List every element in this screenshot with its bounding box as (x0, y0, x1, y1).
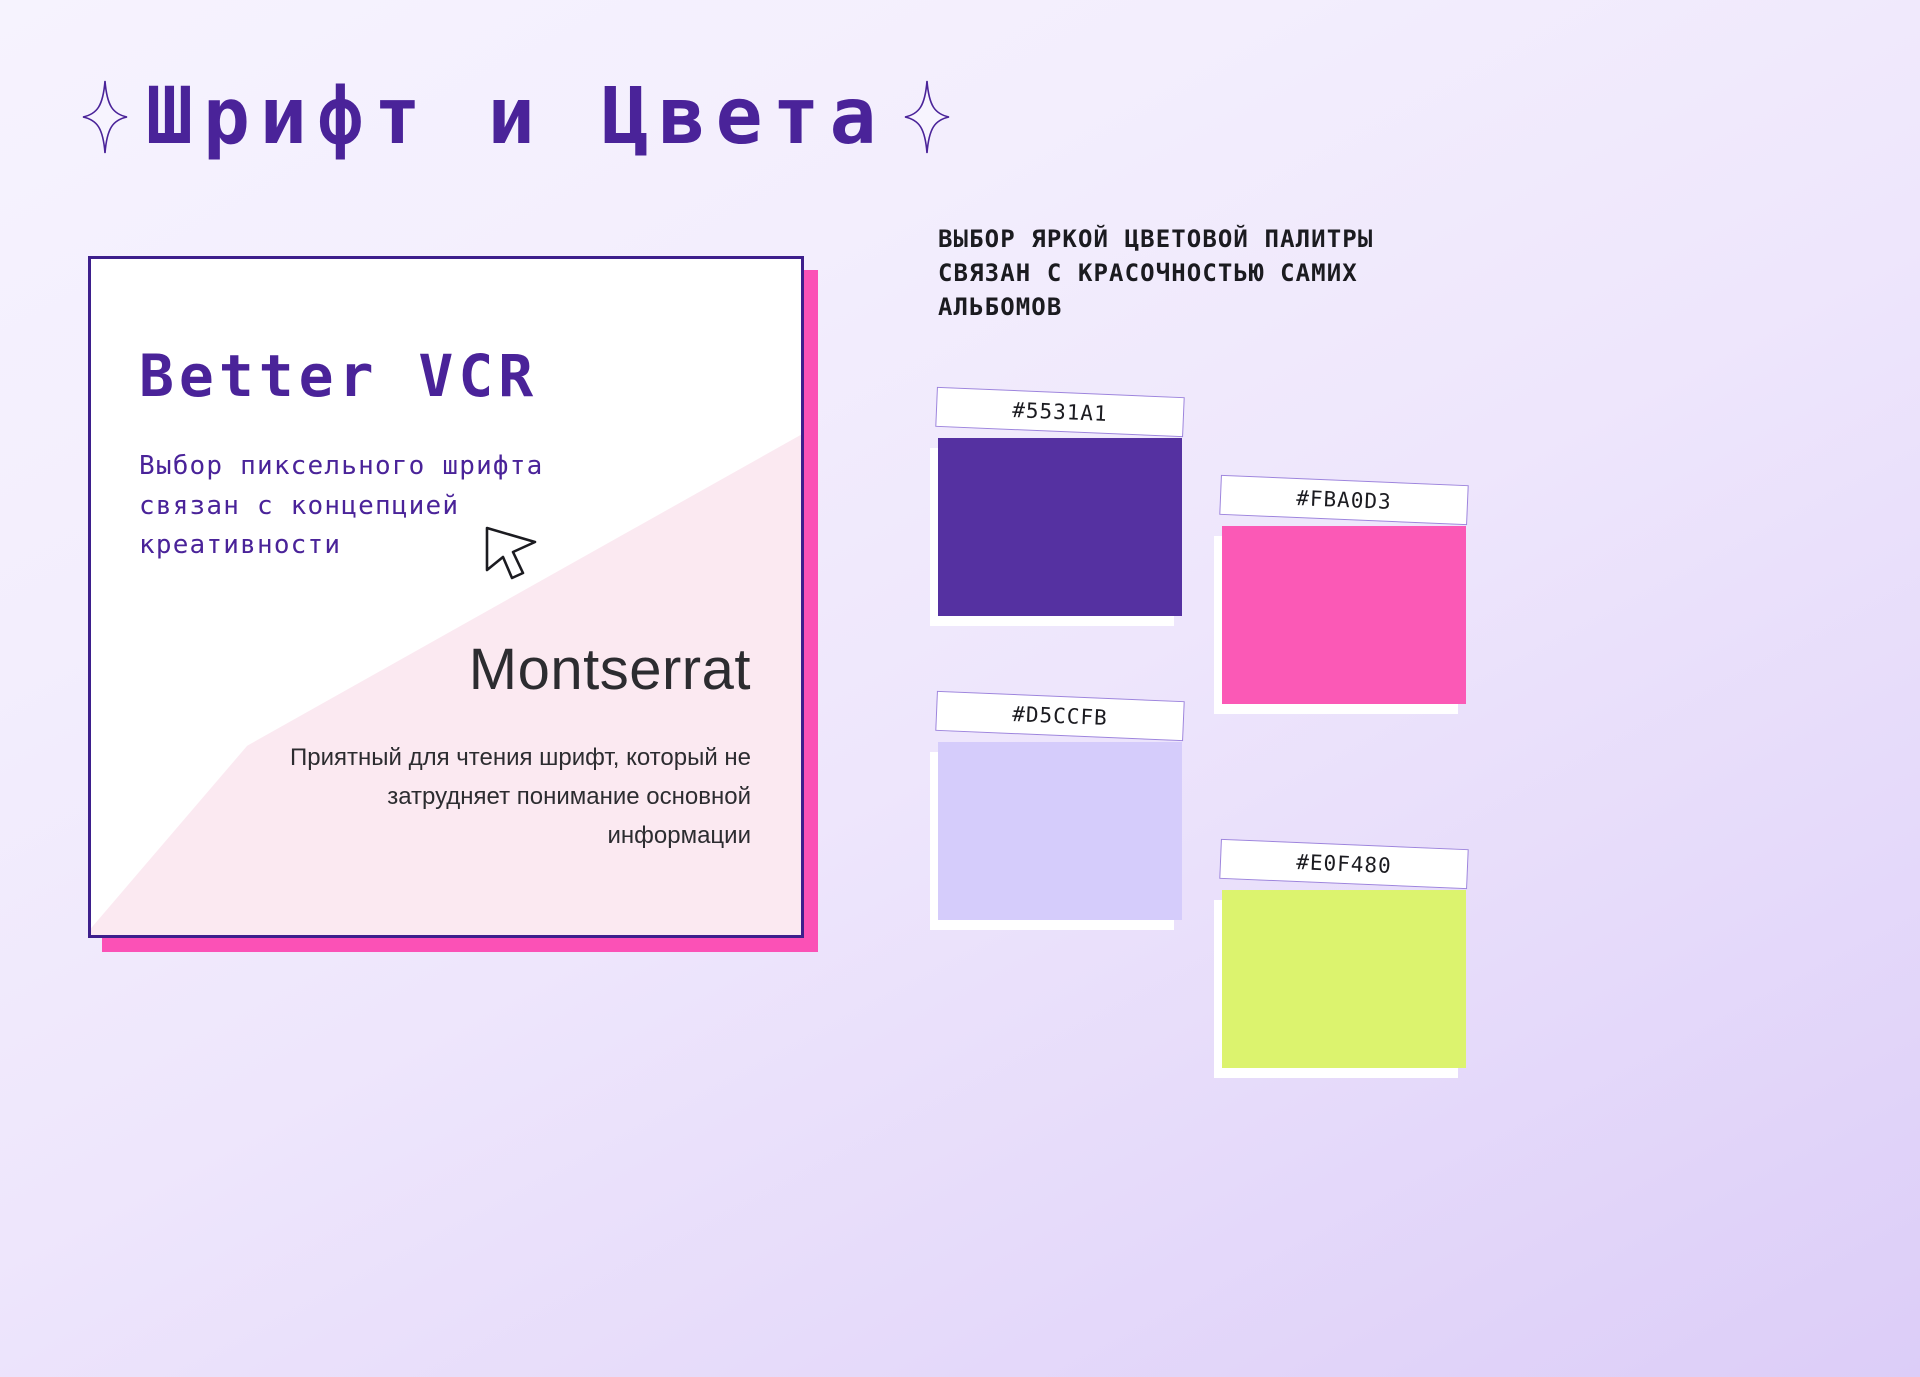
color-swatch[interactable]: #E0F480 (1222, 890, 1466, 1068)
sparkle-icon (904, 80, 950, 154)
body-font-description: Приятный для чтения шрифт, который не за… (281, 739, 751, 856)
card-body: Better VCR Выбор пиксельного шрифта связ… (88, 256, 804, 938)
color-swatch[interactable]: #FBA0D3 (1222, 526, 1466, 704)
palette-note: ВЫБОР ЯРКОЙ ЦВЕТОВОЙ ПАЛИТРЫ СВЯЗАН С КР… (938, 222, 1408, 324)
page-title: Шрифт и Цвета (146, 78, 886, 156)
swatch-color-chip (1222, 890, 1466, 1068)
mouse-cursor-icon (483, 525, 539, 587)
swatch-label: #FBA0D3 (1219, 475, 1468, 525)
swatch-label: #E0F480 (1219, 839, 1468, 889)
pixel-font-description: Выбор пиксельного шрифта связан с концеп… (139, 447, 659, 566)
pixel-font-name: Better VCR (139, 347, 538, 405)
font-showcase-card: Better VCR Выбор пиксельного шрифта связ… (88, 256, 804, 938)
sparkle-icon (82, 80, 128, 154)
swatch-color-chip (938, 742, 1182, 920)
swatch-color-chip (938, 438, 1182, 616)
swatch-label: #D5CCFB (935, 691, 1184, 741)
body-font-name: Montserrat (469, 641, 751, 699)
swatch-color-chip (1222, 526, 1466, 704)
color-swatch[interactable]: #D5CCFB (938, 742, 1182, 920)
color-swatch[interactable]: #5531A1 (938, 438, 1182, 616)
swatch-label: #5531A1 (935, 387, 1184, 437)
slide-title-row: Шрифт и Цвета (82, 78, 950, 156)
color-swatch-grid: #5531A1 #FBA0D3 #D5CCFB #E0F480 (938, 390, 1858, 1080)
